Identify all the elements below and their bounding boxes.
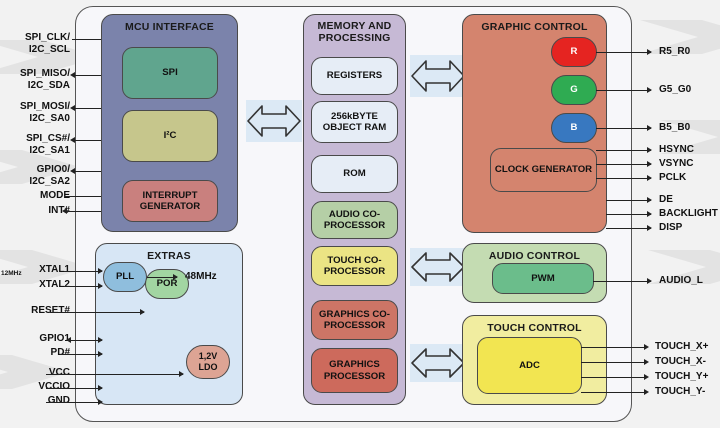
pin-label-disp: DISP <box>659 222 682 234</box>
block-audio-coprocessor[interactable]: AUDIO CO-PROCESSOR <box>311 201 398 239</box>
arrow-vccio <box>98 385 103 391</box>
arrow-touch-yp <box>644 374 649 380</box>
arrow-g5-g0 <box>647 87 652 93</box>
pin-label-touch-xp: TOUCH_X+ <box>655 341 708 353</box>
pin-label-audio-l: AUDIO_L <box>659 275 703 287</box>
arrow-touch-ym <box>644 389 649 395</box>
block-pll[interactable]: PLL <box>103 262 147 292</box>
label-48mhz: 48MHz <box>185 271 217 283</box>
arrow-spi-mosi-out <box>70 105 75 111</box>
block-object-ram[interactable]: 256kBYTE OBJECT RAM <box>311 101 398 143</box>
bus-arrow-mcu-memory <box>246 100 302 142</box>
wire-touch-yp <box>581 377 647 378</box>
block-adc[interactable]: ADC <box>477 337 582 394</box>
arrow-gpio1-in <box>98 337 103 343</box>
wire-audio-l <box>593 281 651 282</box>
wire-pd <box>60 354 102 355</box>
block-rom[interactable]: ROM <box>311 155 398 193</box>
arrow-b5-b0 <box>647 125 652 131</box>
wire-de <box>606 200 651 201</box>
arrow-hsync <box>647 147 652 153</box>
arrow-audio-l <box>647 278 652 284</box>
bus-arrow-memory-graphic <box>410 55 466 97</box>
block-por[interactable]: POR <box>145 269 189 299</box>
panel-title-memory-processing: MEMORY AND PROCESSING <box>304 20 405 44</box>
pin-label-spi-mosi: SPI_MOSI/ I2C_SA0 <box>0 101 70 124</box>
pin-label-spi-miso: SPI_MISO/ I2C_SDA <box>0 68 70 91</box>
pin-label-hsync: HSYNC <box>659 144 694 156</box>
panel-title-mcu-interface: MCU INTERFACE <box>102 21 237 33</box>
wire-xtal2 <box>64 286 102 287</box>
wire-backlight <box>606 214 651 215</box>
wire-hsync <box>596 150 651 151</box>
pin-label-pd: PD# <box>0 347 70 359</box>
block-red-channel[interactable]: R <box>551 37 597 67</box>
block-ldo[interactable]: 1,2V LDO <box>186 345 230 379</box>
pin-label-g5-g0: G5_G0 <box>659 84 691 96</box>
wire-b5-b0 <box>596 128 651 129</box>
pin-label-pclk: PCLK <box>659 172 686 184</box>
wire-reset <box>50 312 144 313</box>
arrow-pd <box>98 351 103 357</box>
arrow-backlight <box>647 211 652 217</box>
arrow-int <box>62 208 67 214</box>
arrow-xtal1 <box>98 268 103 274</box>
block-green-channel[interactable]: G <box>551 75 597 105</box>
arrow-reset <box>140 309 145 315</box>
pin-label-r5-r0: R5_R0 <box>659 46 690 58</box>
arrow-gpio0-out <box>70 168 75 174</box>
pin-label-gpio1: GPIO1 <box>0 333 70 345</box>
wire-g5-g0 <box>596 90 651 91</box>
wire-gnd <box>46 402 102 403</box>
arrow-de <box>647 197 652 203</box>
pin-label-int: INT# <box>0 205 70 217</box>
wire-vcc <box>46 374 183 375</box>
wire-gpio1 <box>68 340 102 341</box>
wire-vccio <box>46 388 102 389</box>
block-graphics-coprocessor[interactable]: GRAPHICS CO-PROCESSOR <box>311 300 398 340</box>
panel-title-extras: EXTRAS <box>96 250 242 262</box>
arrow-touch-xm <box>644 359 649 365</box>
wire-pclk <box>596 178 651 179</box>
arrow-touch-xp <box>644 344 649 350</box>
block-diagram-canvas: SPI_CLK/ I2C_SCL SPI_MISO/ I2C_SDA SPI_M… <box>0 0 720 428</box>
wire-touch-xm <box>581 362 647 363</box>
pin-label-touch-ym: TOUCH_Y- <box>655 386 705 398</box>
block-spi[interactable]: SPI <box>122 47 218 99</box>
arrow-r5-r0 <box>647 49 652 55</box>
bus-arrow-memory-audio <box>410 248 466 286</box>
pin-label-backlight: BACKLIGHT <box>659 208 718 220</box>
block-registers[interactable]: REGISTERS <box>311 57 398 95</box>
arrow-xtal2 <box>98 283 103 289</box>
pin-label-b5-b0: B5_B0 <box>659 122 690 134</box>
pin-label-de: DE <box>659 194 673 206</box>
panel-title-touch-control: TOUCH CONTROL <box>463 322 606 334</box>
block-graphics-processor[interactable]: GRAPHICS PROCESSOR <box>311 348 398 393</box>
pin-label-mode: MODE <box>0 190 70 202</box>
wire-disp <box>606 228 651 229</box>
pin-label-spi-clk: SPI_CLK/ I2C_SCL <box>0 32 70 55</box>
arrow-spi-miso-out <box>70 72 75 78</box>
arrow-gpio1-out <box>66 337 71 343</box>
block-i2c[interactable]: I²C <box>122 110 218 162</box>
pin-label-vsync: VSYNC <box>659 158 693 170</box>
arrow-pll-out <box>173 274 178 280</box>
pin-label-vccio: VCCIO <box>0 381 70 393</box>
block-clock-generator[interactable]: CLOCK GENERATOR <box>490 148 597 192</box>
panel-title-audio-control: AUDIO CONTROL <box>463 250 606 262</box>
pin-label-touch-xm: TOUCH_X- <box>655 356 706 368</box>
block-blue-channel[interactable]: B <box>551 113 597 143</box>
arrow-disp <box>647 225 652 231</box>
block-interrupt-generator[interactable]: INTERRUPT GENERATOR <box>122 180 218 222</box>
bus-arrow-memory-touch <box>410 344 466 382</box>
arrow-pclk <box>647 175 652 181</box>
wire-touch-ym <box>581 392 647 393</box>
pin-label-gnd: GND <box>0 395 70 407</box>
wire-vsync <box>596 164 651 165</box>
pin-label-gpio0: GPIO0/ I2C_SA2 <box>0 164 70 187</box>
arrow-vsync <box>647 161 652 167</box>
wire-xtal1 <box>64 271 102 272</box>
pin-label-spi-cs: SPI_CS#/ I2C_SA1 <box>0 133 70 156</box>
pin-label-xtal1: XTAL1 <box>0 264 70 276</box>
pin-label-touch-yp: TOUCH_Y+ <box>655 371 708 383</box>
wire-touch-xp <box>581 347 647 348</box>
block-pwm[interactable]: PWM <box>492 263 594 294</box>
pin-label-reset: RESET# <box>0 305 70 317</box>
arrow-vcc <box>179 371 184 377</box>
panel-title-graphic-control: GRAPHIC CONTROL <box>463 21 606 33</box>
block-touch-coprocessor[interactable]: TOUCH CO-PROCESSOR <box>311 246 398 286</box>
arrow-gnd <box>98 399 103 405</box>
pin-label-xtal2: XTAL2 <box>0 279 70 291</box>
pin-label-vcc: VCC <box>0 367 70 379</box>
wire-r5-r0 <box>596 52 651 53</box>
arrow-spi-cs-out <box>70 137 75 143</box>
